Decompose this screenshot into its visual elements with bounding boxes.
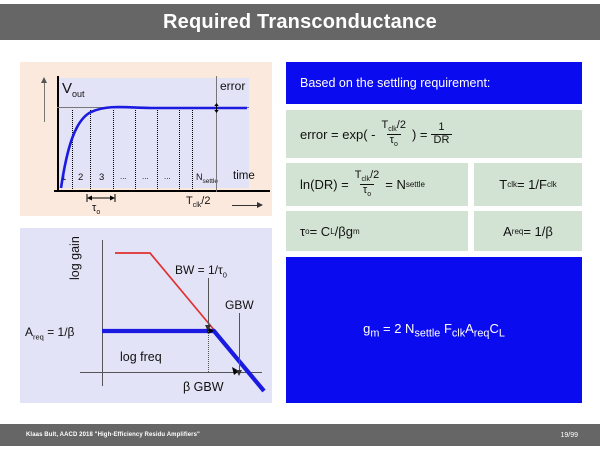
bode-plot-panel: log gain log freq Areq = 1/β BW = 1/τ0 G… <box>20 228 272 403</box>
bode-areq-label: Areq = 1/β <box>25 325 74 341</box>
equation-ln-dr: ln(DR) = Tclk/2 τo = Nsettle <box>286 163 468 206</box>
tau-span-bracket-icon <box>86 194 116 202</box>
equation-tclk: Tclk = 1/Fclk <box>474 163 582 206</box>
amplitude-arrow-icon <box>44 82 45 122</box>
frac-tclk-over-tau: Tclk/2 τo <box>379 120 409 148</box>
equation-ln-dr-text: ln(DR) = Tclk/2 τo = Nsettle <box>300 170 425 198</box>
equation-tclk-text: Tclk = 1/Fclk <box>499 177 557 192</box>
bode-x-axis-label: log freq <box>120 350 162 364</box>
footer-citation: Klaas Bult, AACD 2018 "High-Efficiency R… <box>26 432 200 438</box>
settling-requirement-header: Based on the settling requirement: <box>286 62 582 104</box>
bode-beta-gbw-guide-line <box>208 331 209 372</box>
settling-chart-panel: Vout 1 2 3 ... ... ... Nsettle error tim… <box>20 62 272 216</box>
settling-x-axis <box>54 190 270 192</box>
bode-bw-label: BW = 1/τ0 <box>175 263 227 279</box>
settling-requirement-header-text: Based on the settling requirement: <box>300 76 490 90</box>
slide-footer-bar: Klaas Bult, AACD 2018 "High-Efficiency R… <box>0 424 600 446</box>
footer-page-number: 19/99 <box>560 432 578 439</box>
settling-error-gap-arrow-icon <box>213 103 220 113</box>
equation-tau-text: τo = CL/βgm <box>300 224 360 239</box>
bode-gbw-label: GBW <box>225 298 254 312</box>
settling-step-response-curve <box>57 78 249 190</box>
frac-one-over-dr: 1 DR <box>431 122 453 146</box>
equation-error-text: error = exp( - Tclk/2 τo ) = 1 DR <box>300 120 455 148</box>
bode-gbw-pointer-icon <box>239 313 240 371</box>
equation-areq: Areq = 1/β <box>474 211 582 251</box>
bode-y-axis-label: log gain <box>68 236 82 280</box>
slide-title-bar: Required Transconductance <box>0 4 600 40</box>
settling-tau-label: τo <box>92 202 100 216</box>
settling-tclk-label: Tclk/2 <box>186 195 210 209</box>
bode-bw-pointer-icon <box>208 278 209 326</box>
page-title: Required Transconductance <box>163 11 437 34</box>
bode-curves <box>20 228 272 403</box>
frac-tclk-over-tau-2: Tclk/2 τo <box>352 170 382 198</box>
bode-beta-gbw-label: β GBW <box>183 380 224 394</box>
equation-gm-text: gm = 2 Nsettle FclkAreqCL <box>363 321 505 340</box>
time-direction-arrow-icon <box>232 205 258 206</box>
equation-tau: τo = CL/βgm <box>286 211 468 251</box>
equation-error: error = exp( - Tclk/2 τo ) = 1 DR <box>286 110 582 158</box>
settling-error-label: error <box>220 79 245 93</box>
settling-x-axis-label: time <box>233 170 255 182</box>
final-result-panel: gm = 2 Nsettle FclkAreqCL <box>286 257 582 403</box>
equation-areq-text: Areq = 1/β <box>503 224 553 239</box>
